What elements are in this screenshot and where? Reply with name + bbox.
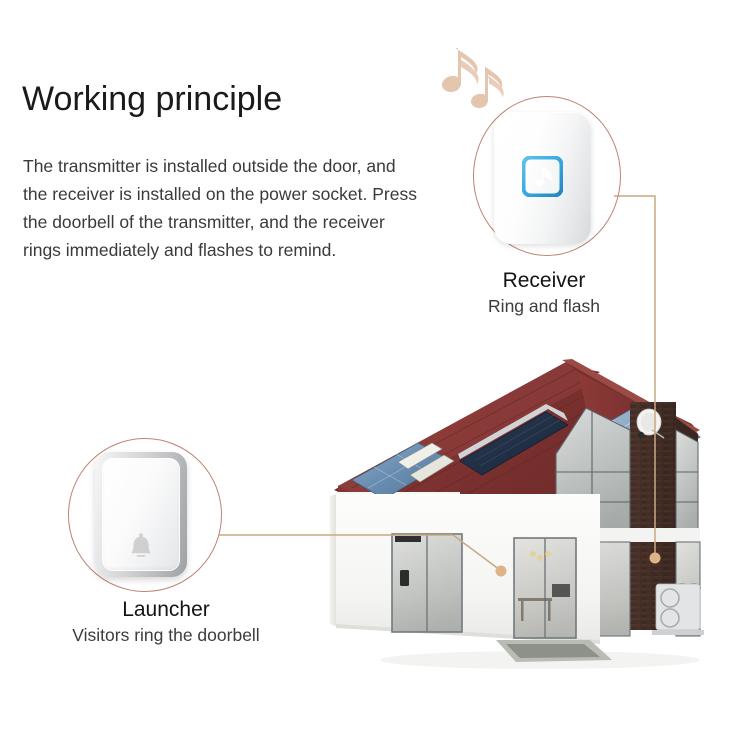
description-paragraph: The transmitter is installed outside the… [23, 152, 423, 264]
receiver-title: Receiver [434, 268, 654, 294]
receiver-device[interactable] [494, 112, 591, 244]
receiver-label-group: Receiver Ring and flash [434, 268, 654, 319]
music-notes-icon [432, 42, 510, 124]
launcher-title: Launcher [20, 597, 312, 623]
bell-icon [128, 532, 154, 560]
page-title: Working principle [22, 80, 282, 119]
receiver-subtitle: Ring and flash [434, 294, 654, 319]
music-note-badge-icon [522, 156, 563, 197]
launcher-subtitle: Visitors ring the doorbell [20, 623, 312, 648]
house-illustration [300, 342, 750, 672]
launcher-label-group: Launcher Visitors ring the doorbell [20, 597, 312, 648]
working-principle-infographic: Working principle The transmitter is ins… [0, 0, 750, 750]
launcher-device[interactable] [95, 452, 187, 577]
launcher-button-face[interactable] [102, 458, 180, 571]
